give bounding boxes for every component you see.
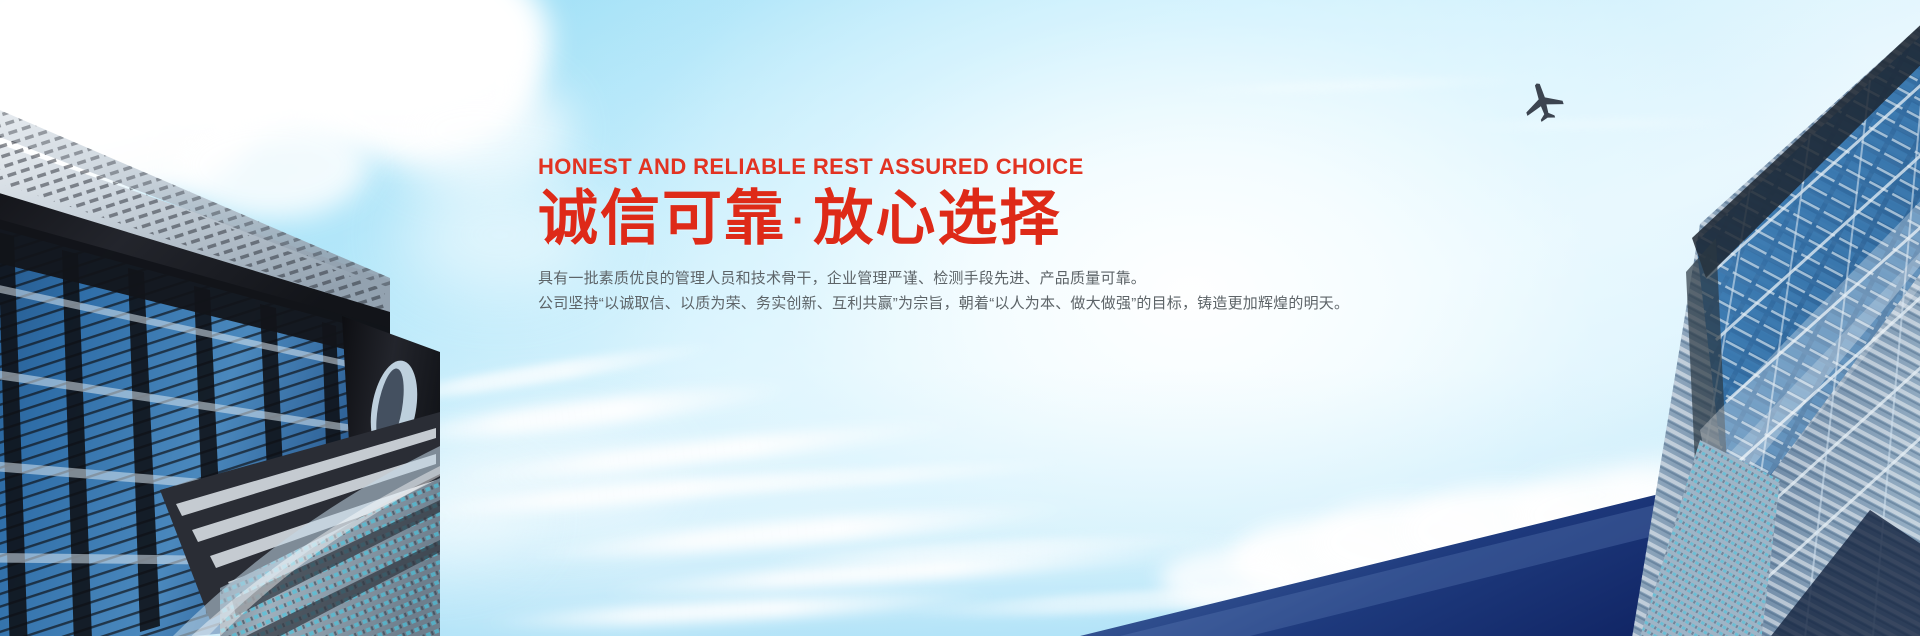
banner-copy: HONEST AND RELIABLE REST ASSURED CHOICE … (538, 155, 1358, 315)
banner-headline: 诚信可靠·放心选择 (538, 185, 1358, 252)
left-skyscraper (0, 60, 440, 636)
banner-body-line-1: 具有一批素质优良的管理人员和技术骨干，企业管理严谨、检测手段先进、产品质量可靠。 (538, 268, 1358, 290)
headline-right: 放心选择 (813, 185, 1061, 252)
banner-eyebrow: HONEST AND RELIABLE REST ASSURED CHOICE (538, 155, 1358, 179)
hero-banner: HONEST AND RELIABLE REST ASSURED CHOICE … (0, 0, 1920, 636)
right-skyscraper (1400, 10, 1920, 636)
banner-body-line-2: 公司坚持“以诚取信、以质为荣、务实创新、互利共赢”为宗旨，朝着“以人为本、做大做… (538, 293, 1358, 315)
headline-left: 诚信可靠 (538, 185, 786, 252)
headline-separator-dot: · (786, 199, 813, 243)
